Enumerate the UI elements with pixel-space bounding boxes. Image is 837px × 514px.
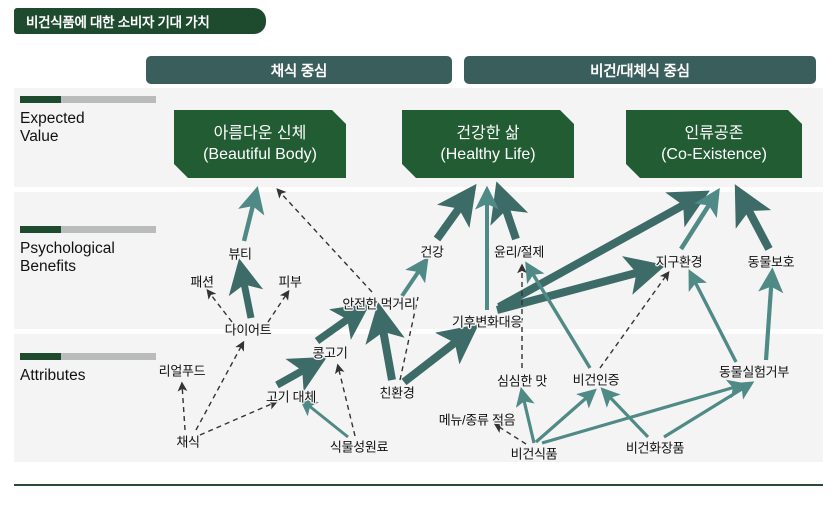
value-box-beautiful-body[interactable]: 아름다운 신체 (Beautiful Body)	[174, 110, 346, 178]
node-health[interactable]: 건강	[420, 242, 443, 261]
column-header-label: 채식 중심	[271, 60, 327, 81]
value-box-label-en: (Healthy Life)	[440, 144, 535, 165]
row-meter-attributes	[20, 353, 156, 360]
row-label-text: Expected Value	[20, 110, 156, 146]
node-eco[interactable]: 친환경	[380, 383, 415, 402]
node-vegan-food[interactable]: 비건식품	[511, 444, 558, 463]
node-earth-env[interactable]: 지구환경	[656, 252, 703, 271]
node-skin[interactable]: 피부	[278, 272, 301, 291]
node-diet[interactable]: 다이어트	[225, 320, 272, 339]
value-box-label-ko: 인류공존	[685, 123, 744, 144]
value-box-label-ko: 아름다운 신체	[214, 123, 307, 144]
node-vegan-cosm[interactable]: 비건화장품	[626, 438, 684, 457]
node-plant-origin[interactable]: 식물성원료	[330, 437, 388, 456]
value-box-healthy-life[interactable]: 건강한 삶 (Healthy Life)	[402, 110, 574, 178]
row-label-psychological-benefits: Psychological Benefits	[20, 226, 156, 276]
node-no-animal-test[interactable]: 동물실험거부	[719, 362, 789, 381]
page-title: 비건식품에 대한 소비자 기대 가치	[14, 11, 209, 31]
row-label-attributes: Attributes	[20, 353, 156, 385]
value-box-label-ko: 건강한 삶	[456, 123, 519, 144]
node-bland-taste[interactable]: 심심한 맛	[497, 371, 547, 390]
node-few-menu[interactable]: 메뉴/종류 적음	[439, 410, 516, 429]
row-label-text: Attributes	[20, 367, 156, 385]
row-meter-expected-value	[20, 96, 156, 103]
value-box-coexistence[interactable]: 인류공존 (Co-Existence)	[626, 110, 802, 178]
bottom-rule	[14, 484, 823, 486]
node-safe-food[interactable]: 안전한 먹거리	[342, 294, 415, 313]
value-box-label-en: (Co-Existence)	[661, 144, 767, 165]
node-beauty[interactable]: 뷰티	[228, 244, 251, 263]
row-label-expected-value: Expected Value	[20, 96, 156, 146]
column-header-label: 비건/대체식 중심	[590, 60, 690, 81]
node-soy-meat[interactable]: 콩고기	[313, 343, 348, 362]
column-header-plant-based: 채식 중심	[146, 56, 452, 84]
node-ethics[interactable]: 윤리/절제	[494, 242, 544, 261]
node-meat-sub[interactable]: 고기 대체	[266, 387, 316, 406]
node-climate[interactable]: 기후변화대응	[452, 312, 522, 331]
node-fashion[interactable]: 패션	[190, 272, 213, 291]
node-vegan-cert[interactable]: 비건인증	[573, 370, 620, 389]
node-real-food[interactable]: 리얼푸드	[159, 361, 206, 380]
column-header-vegan-alt: 비건/대체식 중심	[464, 56, 816, 84]
page-title-bar: 비건식품에 대한 소비자 기대 가치	[14, 8, 266, 34]
row-label-text: Psychological Benefits	[20, 240, 156, 276]
node-vegetarian[interactable]: 채식	[176, 432, 199, 451]
value-box-label-en: (Beautiful Body)	[203, 144, 317, 165]
node-animal-prot[interactable]: 동물보호	[748, 252, 795, 271]
row-meter-psychological-benefits	[20, 226, 156, 233]
